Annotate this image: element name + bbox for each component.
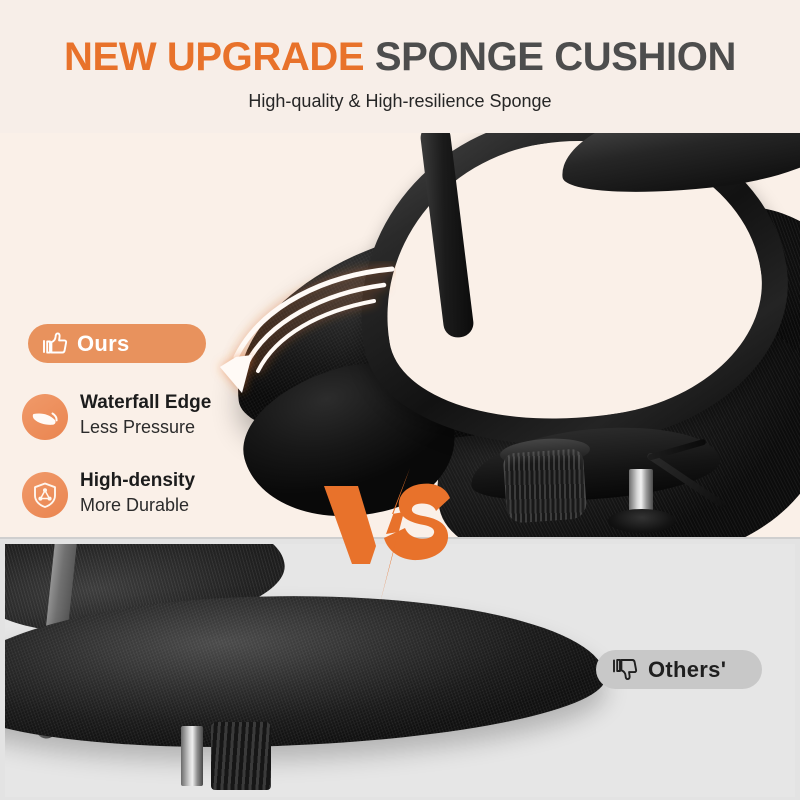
shield-density-icon bbox=[30, 480, 60, 510]
feature-icon-wrap bbox=[22, 394, 68, 440]
header-band: NEW UPGRADE SPONGE CUSHION High-quality … bbox=[0, 0, 800, 133]
ours-panel: Ours Waterfall Edge Less Pressure bbox=[0, 133, 800, 537]
competitor-cylinder-shroud bbox=[211, 722, 271, 790]
title-accent: NEW UPGRADE bbox=[64, 35, 364, 79]
product-comparison-image: NEW UPGRADE SPONGE CUSHION High-quality … bbox=[0, 0, 800, 800]
ours-badge: Ours bbox=[28, 324, 206, 363]
thumbs-up-icon bbox=[42, 331, 68, 356]
feature-text: Waterfall Edge Less Pressure bbox=[80, 391, 211, 439]
feature-text: High-density More Durable bbox=[80, 469, 195, 517]
others-badge-label: Others' bbox=[648, 659, 726, 681]
feature-title: Waterfall Edge bbox=[80, 391, 211, 415]
feature-icon-wrap bbox=[22, 472, 68, 518]
feature-title: High-density bbox=[80, 469, 195, 493]
title-rest: SPONGE CUSHION bbox=[375, 35, 736, 79]
page-subtitle: High-quality & High-resilience Sponge bbox=[0, 89, 800, 113]
feature-item: High-density More Durable bbox=[22, 469, 272, 529]
chair-tilt-knob bbox=[503, 448, 588, 523]
ours-feature-list: Waterfall Edge Less Pressure bbox=[22, 391, 272, 537]
feature-subtitle: Less Pressure bbox=[80, 415, 211, 439]
others-badge: Others' bbox=[596, 650, 762, 689]
ours-badge-label: Ours bbox=[77, 333, 130, 355]
feature-item: Waterfall Edge Less Pressure bbox=[22, 391, 272, 451]
chair-cylinder-base bbox=[608, 509, 676, 533]
thumbs-down-icon bbox=[612, 657, 638, 682]
competitor-gas-cylinder bbox=[181, 726, 203, 786]
page-title: NEW UPGRADE SPONGE CUSHION bbox=[0, 34, 800, 80]
waterfall-edge-icon bbox=[30, 402, 60, 432]
feature-subtitle: More Durable bbox=[80, 493, 195, 517]
